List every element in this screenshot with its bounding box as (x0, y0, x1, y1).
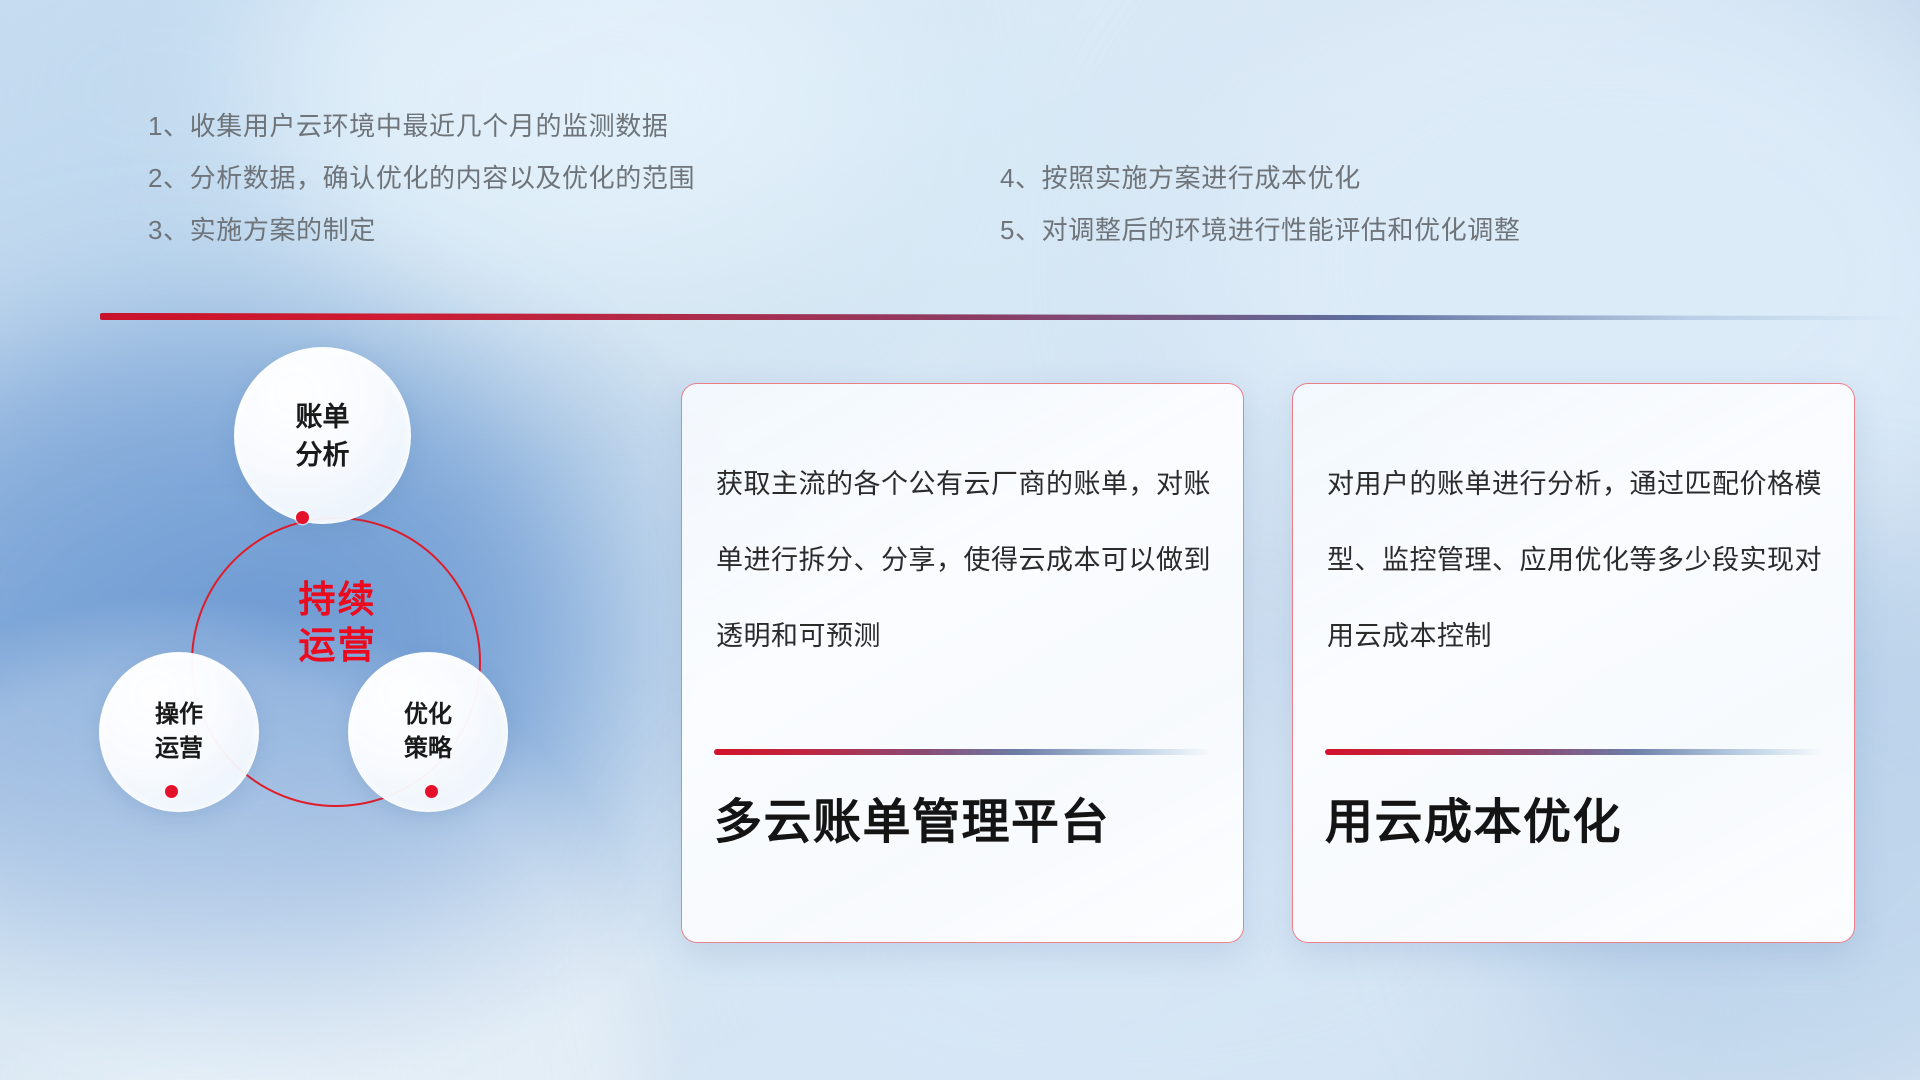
card-title: 用云成本优化 (1325, 792, 1830, 854)
diagram-center-label-line2: 运营 (250, 623, 425, 669)
diagram-center-label: 持续 运营 (250, 577, 425, 669)
step-item-1: 1、收集用户云环境中最近几个月的监测数据 (148, 100, 868, 152)
step-item-3: 3、实施方案的制定 (148, 204, 868, 256)
steps-list-left: 1、收集用户云环境中最近几个月的监测数据 2、分析数据，确认优化的内容以及优化的… (148, 100, 868, 256)
steps-list-right: 4、按照实施方案进行成本优化 5、对调整后的环境进行性能评估和优化调整 (1000, 152, 1740, 256)
card-title: 多云账单管理平台 (714, 792, 1219, 854)
diagram-node-label-line1: 操作 (155, 698, 203, 732)
diagram-connector-dot-bottomright (425, 785, 438, 798)
diagram-node-label-line1: 账单 (296, 398, 350, 436)
diagram-node-bill-analysis[interactable]: 账单 分析 (234, 347, 411, 524)
diagram-node-label-line2: 策略 (404, 732, 452, 766)
diagram-connector-dot-bottomleft (165, 785, 178, 798)
step-item-5: 5、对调整后的环境进行性能评估和优化调整 (1000, 204, 1740, 256)
feature-card-multi-cloud-billing[interactable]: 获取主流的各个公有云厂商的账单，对账单进行拆分、分享，使得云成本可以做到透明和可… (681, 383, 1244, 943)
feature-card-cloud-cost-optimization[interactable]: 对用户的账单进行分析，通过匹配价格模型、监控管理、应用优化等多少段实现对用云成本… (1292, 383, 1855, 943)
card-description: 对用户的账单进行分析，通过匹配价格模型、监控管理、应用优化等多少段实现对用云成本… (1327, 446, 1824, 674)
card-accent-rule (1325, 749, 1822, 755)
step-item-4: 4、按照实施方案进行成本优化 (1000, 152, 1740, 204)
diagram-node-operation-ops[interactable]: 操作 运营 (99, 652, 259, 812)
card-description: 获取主流的各个公有云厂商的账单，对账单进行拆分、分享，使得云成本可以做到透明和可… (716, 446, 1213, 674)
card-accent-rule (714, 749, 1211, 755)
venn-diagram: 账单 分析 操作 运营 优化 策略 持续 运营 (95, 355, 605, 935)
diagram-node-label-line2: 运营 (155, 732, 203, 766)
diagram-center-label-line1: 持续 (250, 577, 425, 623)
diagram-node-label-line2: 分析 (296, 436, 350, 474)
step-item-2: 2、分析数据，确认优化的内容以及优化的范围 (148, 152, 868, 204)
diagram-node-label-line1: 优化 (404, 698, 452, 732)
diagram-connector-dot-top (296, 511, 309, 524)
